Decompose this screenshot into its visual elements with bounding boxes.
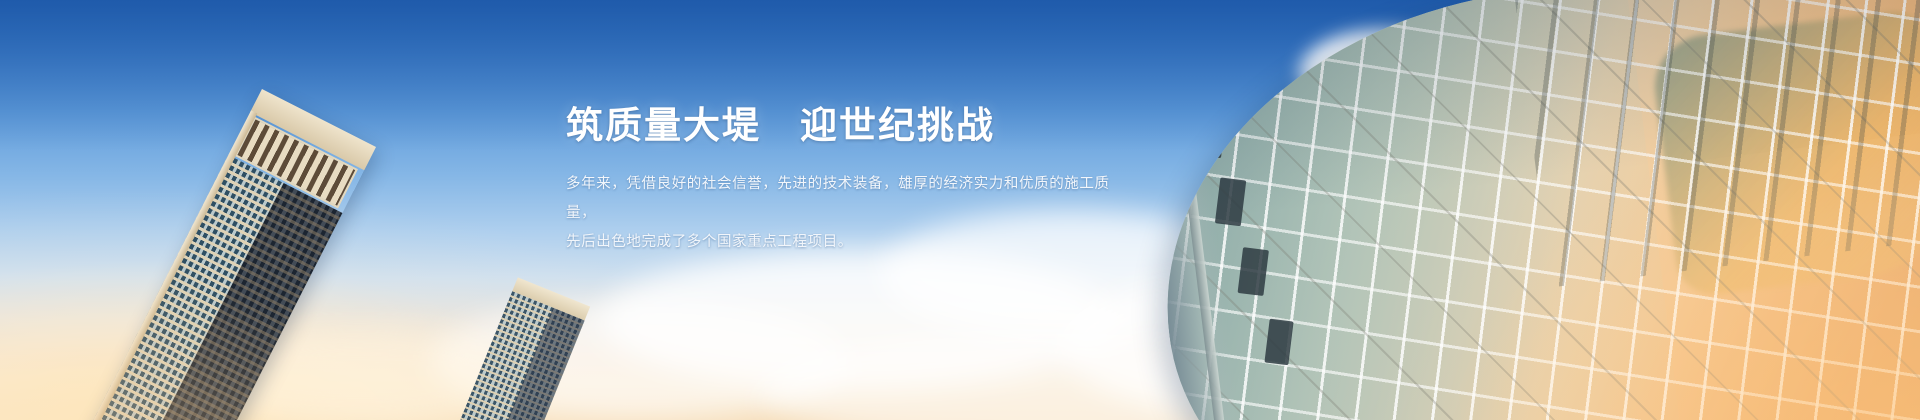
subcopy-line-2: 先后出色地完成了多个国家重点工程项目。 bbox=[566, 228, 1126, 257]
page-title: 筑质量大堤 迎世纪挑战 bbox=[566, 104, 1126, 148]
hero-banner: 筑质量大堤 迎世纪挑战 多年来，凭借良好的社会信誉，先进的技术装备，雄厚的经济实… bbox=[0, 0, 1920, 420]
banner-subcopy: 多年来，凭借良好的社会信誉，先进的技术装备，雄厚的经济实力和优质的施工质量， 先… bbox=[566, 170, 1126, 257]
banner-text-block: 筑质量大堤 迎世纪挑战 多年来，凭借良好的社会信誉，先进的技术装备，雄厚的经济实… bbox=[566, 104, 1126, 257]
right-curved-glass-building bbox=[1133, 0, 1920, 420]
facade-top-vignette bbox=[1133, 0, 1920, 420]
subcopy-line-1: 多年来，凭借良好的社会信誉，先进的技术装备，雄厚的经济实力和优质的施工质量， bbox=[566, 170, 1126, 228]
